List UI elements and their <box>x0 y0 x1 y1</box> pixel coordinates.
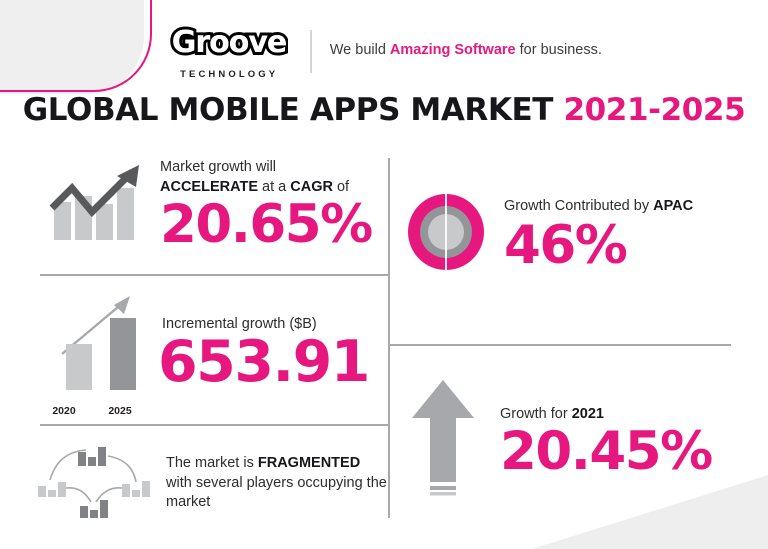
tagline-post: for business. <box>516 42 602 58</box>
apac-caption-bold: APAC <box>653 198 693 214</box>
fragmented-network-icon <box>36 440 152 527</box>
stat-block-apac: Growth Contributed by APAC 46% <box>406 192 746 277</box>
page-title-years: 2021-2025 <box>563 92 745 128</box>
svg-text:Groove: Groove <box>172 25 287 60</box>
two-bar-growth-icon: 2020 2025 <box>44 288 148 417</box>
stat-apac-text: Growth Contributed by APAC 46% <box>486 197 746 271</box>
apac-caption-pre: Growth Contributed by <box>504 198 653 214</box>
stat-incremental-value: 653.91 <box>158 335 388 391</box>
fragmented-caption-bold: FRAGMENTED <box>258 455 360 471</box>
cagr-caption-line1: Market growth will <box>160 159 276 175</box>
stat-cagr-caption: Market growth will ACCELERATE at a CAGR … <box>160 158 388 196</box>
stat-apac-caption: Growth Contributed by APAC <box>504 197 746 216</box>
cagr-caption-accelerate: ACCELERATE <box>160 179 258 195</box>
stat-growth2021-value: 20.45% <box>500 426 750 478</box>
horizontal-divider-left-upper <box>40 274 389 276</box>
stat-block-incremental: 2020 2025 Incremental growth ($B) 653.91 <box>44 288 388 417</box>
up-arrow-icon <box>410 378 476 505</box>
donut-chart-icon <box>406 192 486 277</box>
vertical-divider <box>388 158 390 518</box>
horizontal-divider-left-lower <box>40 424 389 426</box>
cagr-caption-mid: at a <box>258 179 290 195</box>
incremental-bar-labels: 2020 2025 <box>44 405 148 417</box>
stat-cagr-text: Market growth will ACCELERATE at a CAGR … <box>148 158 388 250</box>
bar-label-2020: 2020 <box>46 405 82 417</box>
page-title-main: GLOBAL MOBILE APPS MARKET <box>23 92 564 128</box>
cagr-caption-end: of <box>333 179 349 195</box>
logo-subtitle: TECHNOLOGY <box>180 69 278 80</box>
logo-wordmark: Groove Groove <box>166 22 292 67</box>
bar-label-2025: 2025 <box>102 405 138 417</box>
growth2021-caption-pre: Growth for <box>500 406 572 422</box>
logo-groove-svg: Groove Groove <box>170 24 288 60</box>
stat-fragmented-text: The market is FRAGMENTED with several pl… <box>152 454 388 512</box>
stat-cagr-value: 20.65% <box>160 199 388 251</box>
stat-block-fragmented: The market is FRAGMENTED with several pl… <box>36 440 388 527</box>
brand-tagline: We build Amazing Software for business. <box>330 40 602 61</box>
page-title: GLOBAL MOBILE APPS MARKET 2021-2025 <box>0 92 768 128</box>
groove-logo: Groove Groove TECHNOLOGY <box>166 22 292 80</box>
tagline-accent: Amazing Software <box>390 42 516 58</box>
fragmented-caption-post: with several players occupying the marke… <box>166 475 387 510</box>
tagline-pre: We build <box>330 42 390 58</box>
header-divider <box>310 30 312 73</box>
stat-apac-value: 46% <box>504 220 746 272</box>
bar-chart-up-arrow-icon <box>44 158 148 251</box>
horizontal-divider-right <box>388 344 731 346</box>
stat-fragmented-caption: The market is FRAGMENTED with several pl… <box>166 454 388 512</box>
stat-block-cagr: Market growth will ACCELERATE at a CAGR … <box>44 158 388 251</box>
fragmented-caption-pre: The market is <box>166 455 258 471</box>
stat-block-growth-2021: Growth for 2021 20.45% <box>410 378 750 505</box>
brand-header: Groove Groove TECHNOLOGY We build Amazin… <box>0 22 768 80</box>
stat-growth2021-text: Growth for 2021 20.45% <box>476 405 750 478</box>
cagr-caption-cagr: CAGR <box>290 179 333 195</box>
stat-incremental-text: Incremental growth ($B) 653.91 <box>148 315 388 391</box>
growth2021-caption-bold: 2021 <box>572 406 604 422</box>
